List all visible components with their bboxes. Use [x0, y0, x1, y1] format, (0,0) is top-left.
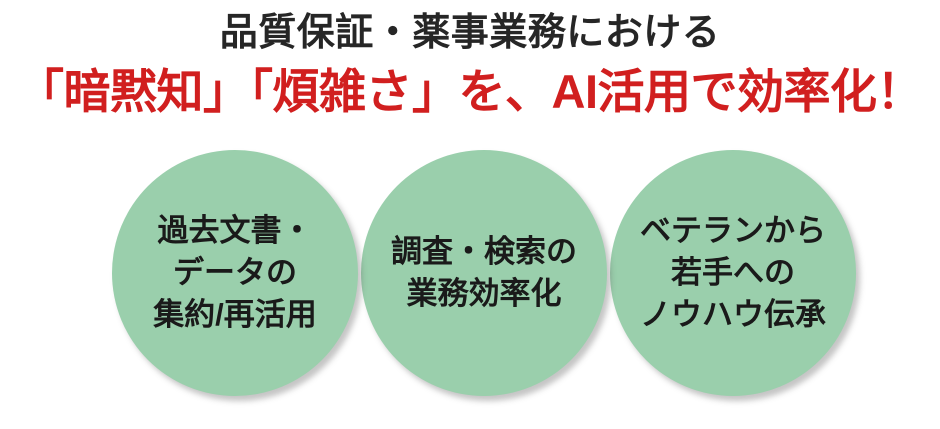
- benefit-circle-3-line-1: ベテランから: [640, 210, 826, 252]
- poster-canvas: 品質保証・薬事業務における 「暗黙知」「煩雑さ」を、AI活用で効率化！ 過去文書…: [0, 0, 940, 429]
- benefit-circle-1: 過去文書・ データの 集約/再活用: [112, 150, 358, 396]
- benefit-circle-3: ベテランから 若手への ノウハウ伝承: [610, 150, 856, 396]
- benefit-circle-1-line-2: データの: [153, 252, 317, 294]
- benefit-circle-2: 調査・検索の 業務効率化: [361, 150, 607, 396]
- benefit-circle-3-line-2: 若手への: [640, 252, 826, 294]
- benefit-circle-2-line-1: 調査・検索の: [391, 231, 577, 273]
- benefit-circle-3-line-3: ノウハウ伝承: [640, 294, 826, 336]
- benefit-circle-1-line-3: 集約/再活用: [153, 294, 317, 336]
- benefit-circle-2-text: 調査・検索の 業務効率化: [391, 231, 577, 315]
- benefit-circle-1-text: 過去文書・ データの 集約/再活用: [153, 210, 317, 336]
- benefit-circle-row: 過去文書・ データの 集約/再活用 調査・検索の 業務効率化 ベテランから 若手…: [0, 0, 940, 429]
- benefit-circle-1-line-1: 過去文書・: [153, 210, 317, 252]
- benefit-circle-2-line-2: 業務効率化: [391, 273, 577, 315]
- benefit-circle-3-text: ベテランから 若手への ノウハウ伝承: [640, 210, 826, 336]
